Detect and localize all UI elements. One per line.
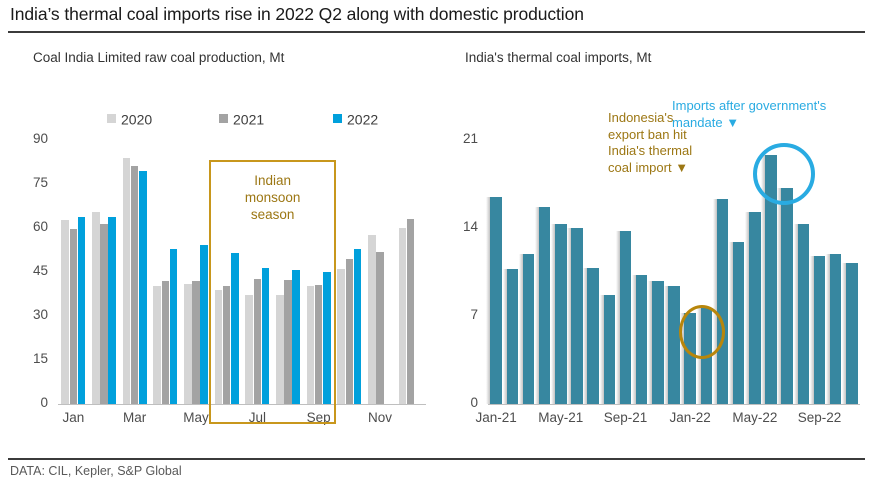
x-tick-Sep-22: Sep-22 xyxy=(791,410,847,425)
bar-Dec-21 xyxy=(668,286,680,404)
bar-shadow xyxy=(777,188,781,404)
annotation-government-mandate: Imports after government's mandate ▼ xyxy=(672,98,873,131)
legend-label-2020: 2020 xyxy=(121,111,152,127)
bar-2021-Nov xyxy=(376,252,384,404)
bar-2022-Mar xyxy=(139,171,147,404)
x-tick-May-22: May-22 xyxy=(727,410,783,425)
y-tick-15: 15 xyxy=(0,351,48,366)
bar-May-22 xyxy=(749,212,761,404)
bar-Apr-22 xyxy=(733,242,745,404)
bar-2020-Apr xyxy=(153,286,161,404)
bar-shadow xyxy=(842,263,846,404)
bar-Sep-22 xyxy=(814,256,826,404)
bar-2021-Oct xyxy=(346,259,354,404)
bar-Mar-21 xyxy=(523,254,535,404)
legend-item-2021: 2021 xyxy=(219,110,264,127)
bar-2021-Jan xyxy=(70,229,78,404)
bar-shadow xyxy=(664,286,668,404)
x-tick-Mar: Mar xyxy=(111,410,158,425)
legend-swatch-2021 xyxy=(219,114,228,123)
bar-Jun-21 xyxy=(571,228,583,404)
bar-2020-Oct xyxy=(337,269,345,404)
monsoon-highlight-label: Indianmonsoonseason xyxy=(209,172,336,223)
highlight-ring-mandate xyxy=(753,143,815,205)
legend-swatch-2020 xyxy=(107,114,116,123)
bar-2020-Feb xyxy=(92,212,100,404)
bar-Aug-22 xyxy=(798,224,810,404)
bar-shadow xyxy=(826,254,830,404)
bar-2020-Nov xyxy=(368,235,376,404)
bar-2022-Apr xyxy=(170,249,178,404)
cil-production-chart: 2020202120220153045607590JanMarMayJulSep… xyxy=(0,60,440,440)
bar-shadow xyxy=(616,231,620,404)
bar-2020-Dec xyxy=(399,228,407,404)
bar-Aug-21 xyxy=(604,295,616,404)
y-tick-60: 60 xyxy=(0,219,48,234)
y-tick-0: 0 xyxy=(440,395,478,410)
bar-shadow xyxy=(632,275,636,404)
bar-2020-May xyxy=(184,284,192,404)
x-tick-Nov: Nov xyxy=(357,410,404,425)
bar-Apr-21 xyxy=(539,207,551,404)
bar-shadow xyxy=(600,295,604,404)
bar-shadow xyxy=(745,212,749,404)
bar-shadow xyxy=(519,254,523,404)
bar-Oct-22 xyxy=(830,254,842,404)
bar-2020-Jan xyxy=(61,220,69,404)
bar-Mar-22 xyxy=(717,199,729,404)
y-tick-45: 45 xyxy=(0,263,48,278)
bar-2020-Mar xyxy=(123,158,131,404)
x-tick-Jan: Jan xyxy=(50,410,97,425)
bar-2022-Feb xyxy=(108,217,116,404)
y-tick-90: 90 xyxy=(0,131,48,146)
footer-divider xyxy=(8,458,865,460)
y-tick-75: 75 xyxy=(0,175,48,190)
bar-2021-Mar xyxy=(131,166,139,404)
bar-shadow xyxy=(648,281,652,404)
page-title: India’s thermal coal imports rise in 202… xyxy=(10,4,863,25)
bar-2021-Feb xyxy=(100,224,108,404)
legend-label-2021: 2021 xyxy=(233,111,264,127)
bar-shadow xyxy=(810,256,814,404)
bar-Nov-21 xyxy=(652,281,664,404)
data-source-note: DATA: CIL, Kepler, S&P Global xyxy=(10,464,182,478)
highlight-ring-indonesia xyxy=(679,305,725,359)
bar-2021-May xyxy=(192,281,200,404)
bar-shadow xyxy=(486,197,490,404)
legend-item-2020: 2020 xyxy=(107,110,152,127)
bar-shadow xyxy=(583,268,587,404)
x-tick-Jan-21: Jan-21 xyxy=(468,410,524,425)
y-tick-14: 14 xyxy=(440,219,478,234)
bar-Jul-21 xyxy=(587,268,599,404)
x-tick-Jan-22: Jan-22 xyxy=(662,410,718,425)
bar-2021-Apr xyxy=(162,281,170,404)
y-tick-7: 7 xyxy=(440,307,478,322)
y-tick-30: 30 xyxy=(0,307,48,322)
bar-2021-Dec xyxy=(407,219,415,404)
legend-label-2022: 2022 xyxy=(347,111,378,127)
bar-shadow xyxy=(503,269,507,404)
bar-shadow xyxy=(535,207,539,404)
x-tick-May-21: May-21 xyxy=(533,410,589,425)
x-axis-line xyxy=(488,404,860,405)
legend-item-2022: 2022 xyxy=(333,110,378,127)
x-tick-Sep-21: Sep-21 xyxy=(597,410,653,425)
bar-shadow xyxy=(729,242,733,404)
y-tick-0: 0 xyxy=(0,395,48,410)
title-divider xyxy=(8,31,865,33)
bar-Jul-22 xyxy=(781,188,793,404)
bar-May-21 xyxy=(555,224,567,404)
bar-shadow xyxy=(551,224,555,404)
bar-2022-Jan xyxy=(78,217,86,404)
bar-Nov-22 xyxy=(846,263,858,404)
bar-Jan-21 xyxy=(490,197,502,404)
bar-shadow xyxy=(567,228,571,404)
bar-Feb-21 xyxy=(507,269,519,404)
bar-2022-May xyxy=(200,245,208,404)
bar-shadow xyxy=(794,224,798,404)
bar-2022-Oct xyxy=(354,249,362,404)
bar-shadow xyxy=(713,199,717,404)
y-tick-21: 21 xyxy=(440,131,478,146)
legend-swatch-2022 xyxy=(333,114,342,123)
bar-Sep-21 xyxy=(620,231,632,404)
bar-Oct-21 xyxy=(636,275,648,404)
